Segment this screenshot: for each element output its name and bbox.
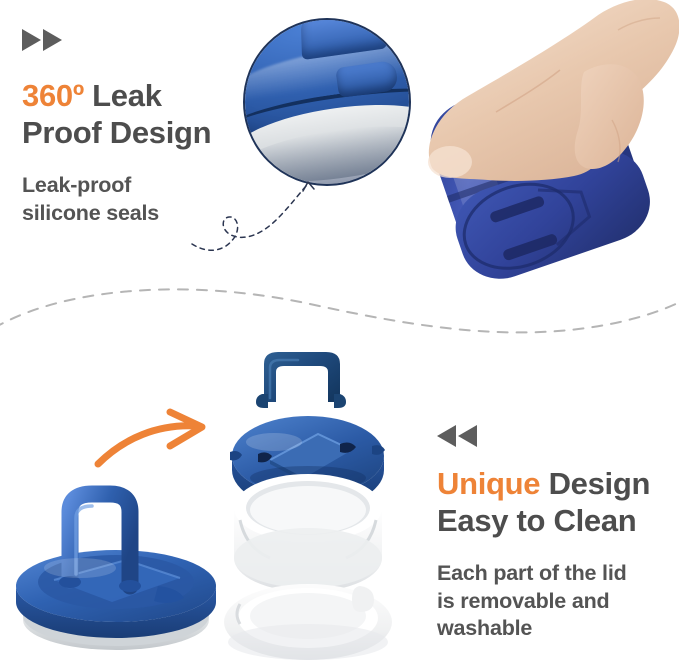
fast-forward-left-icon	[437, 424, 483, 448]
top-subtext-line2: silicone seals	[22, 201, 159, 225]
bottom-headline-rest: Design	[540, 466, 650, 501]
top-headline-accent: 360º	[22, 78, 84, 113]
top-headline-line2: Proof Design	[22, 115, 211, 150]
top-headline: 360º Leak Proof Design	[22, 78, 252, 151]
product-infographic: 360º Leak Proof Design Leak-proof silico…	[0, 0, 679, 664]
bottom-subtext: Each part of the lid is removable and wa…	[437, 560, 679, 643]
top-subtext-line1: Leak-proof	[22, 173, 131, 197]
hand-holding-jar-photo	[388, 0, 679, 300]
bottom-subtext-line1: Each part of the lid	[437, 561, 627, 585]
exploded-handle-part	[256, 352, 346, 408]
exploded-silicone-gasket	[224, 584, 392, 660]
fast-forward-right-icon	[22, 28, 68, 52]
dashed-wave-divider	[0, 288, 679, 350]
dashed-loop-arrow-up	[190, 160, 335, 256]
exploded-silicone-ring	[234, 474, 382, 592]
top-headline-rest: Leak	[84, 78, 162, 113]
bottom-subtext-line2: is removable and	[437, 589, 609, 613]
bottom-headline-line2: Easy to Clean	[437, 503, 636, 538]
bottom-subtext-line3: washable	[437, 616, 532, 640]
exploded-lid-parts	[222, 342, 422, 664]
bottom-headline: Unique Design Easy to Clean	[437, 466, 679, 539]
assembled-lid-product	[8, 468, 233, 664]
bottom-headline-accent: Unique	[437, 466, 540, 501]
